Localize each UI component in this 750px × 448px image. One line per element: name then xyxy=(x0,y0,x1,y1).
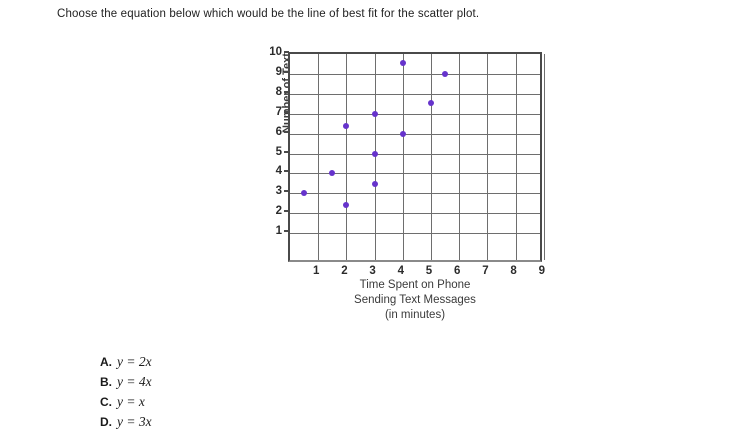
answer-choice-letter: B. xyxy=(100,373,117,392)
y-axis-tick-mark xyxy=(284,210,289,212)
y-axis-tick-mark xyxy=(284,111,289,113)
data-point xyxy=(442,71,448,77)
x-axis-tick-label: 2 xyxy=(336,265,352,277)
x-axis-tick-label: 8 xyxy=(506,265,522,277)
y-axis-tick-mark xyxy=(284,170,289,172)
y-axis-tick-label: 10 xyxy=(260,46,282,58)
y-axis-tick-mark xyxy=(284,71,289,73)
x-axis-tick-label: 9 xyxy=(534,265,550,277)
data-point xyxy=(400,60,406,66)
data-point xyxy=(372,111,378,117)
answer-choice-equation: y = x xyxy=(117,394,145,409)
answer-choice-equation: y = 2x xyxy=(117,354,152,369)
y-axis-tick-label: 3 xyxy=(260,185,282,197)
answer-choice-letter: D. xyxy=(100,413,117,432)
gridline-vertical xyxy=(544,54,545,260)
answer-choice[interactable]: C.y = x xyxy=(100,392,152,412)
data-point xyxy=(428,100,434,106)
x-axis-title: Time Spent on Phone Sending Text Message… xyxy=(300,278,530,323)
answer-choice-equation: y = 4x xyxy=(117,374,152,389)
y-axis-tick-mark xyxy=(284,230,289,232)
data-point xyxy=(301,190,307,196)
answer-choices-list: A.y = 2xB.y = 4xC.y = xD.y = 3x xyxy=(100,352,152,432)
y-axis-tick-label: 7 xyxy=(260,106,282,118)
x-axis-tick-label: 6 xyxy=(449,265,465,277)
x-axis-title-line-3: (in minutes) xyxy=(300,308,530,323)
x-axis-title-line-2: Sending Text Messages xyxy=(300,293,530,308)
data-point xyxy=(343,123,349,129)
y-axis-tick-label: 6 xyxy=(260,126,282,138)
y-axis-tick-mark xyxy=(284,190,289,192)
answer-choice-letter: C. xyxy=(100,393,117,412)
y-axis-tick-mark xyxy=(284,151,289,153)
y-axis-tick-mark xyxy=(284,91,289,93)
y-axis-tick-label: 4 xyxy=(260,165,282,177)
y-axis-tick-mark xyxy=(284,51,289,53)
plot-area xyxy=(288,52,542,262)
y-axis-tick-label: 9 xyxy=(260,66,282,78)
data-point xyxy=(329,170,335,176)
answer-choice-equation: y = 3x xyxy=(117,414,152,429)
answer-choice[interactable]: D.y = 3x xyxy=(100,412,152,432)
scatter-plot-figure: Number of Text Messages Sent 12345678910… xyxy=(0,0,750,340)
data-point xyxy=(343,202,349,208)
y-axis-tick-label: 5 xyxy=(260,146,282,158)
y-axis-tick-label: 2 xyxy=(260,205,282,217)
answer-choice-letter: A. xyxy=(100,353,117,372)
data-point xyxy=(372,181,378,187)
data-points-layer xyxy=(290,54,540,260)
y-axis-tick-mark xyxy=(284,131,289,133)
x-axis-tick-label: 1 xyxy=(308,265,324,277)
y-axis-tick-label: 8 xyxy=(260,86,282,98)
x-axis-tick-label: 4 xyxy=(393,265,409,277)
y-axis-tick-label: 1 xyxy=(260,225,282,237)
x-axis-tick-label: 5 xyxy=(421,265,437,277)
answer-choice[interactable]: A.y = 2x xyxy=(100,352,152,372)
data-point xyxy=(400,131,406,137)
data-point xyxy=(372,151,378,157)
x-axis-tick-label: 7 xyxy=(477,265,493,277)
x-axis-tick-label: 3 xyxy=(365,265,381,277)
answer-choice[interactable]: B.y = 4x xyxy=(100,372,152,392)
x-axis-title-line-1: Time Spent on Phone xyxy=(300,278,530,293)
